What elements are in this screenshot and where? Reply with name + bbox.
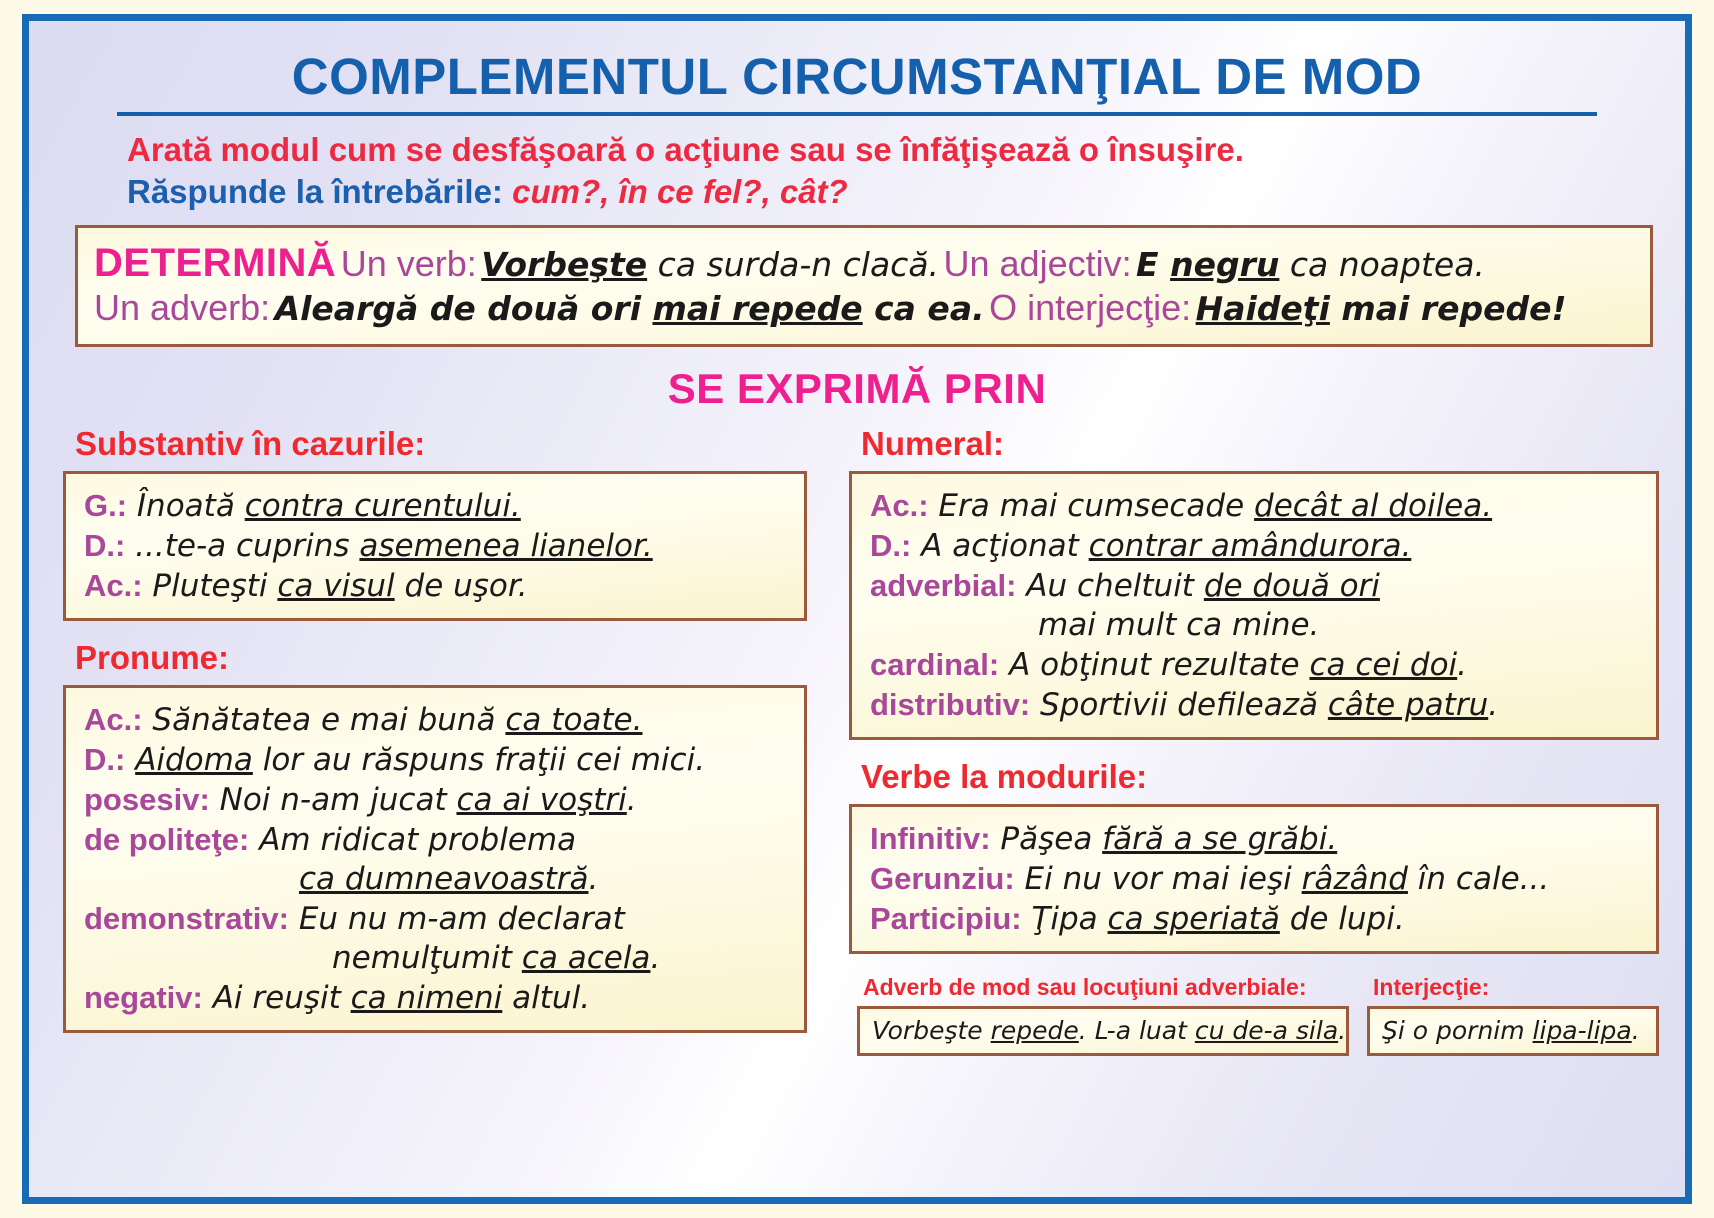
bottom-boxes-row: Adverb de mod sau locuţiuni adverbiale: …	[849, 974, 1659, 1056]
case-label: Gerunziu:	[870, 861, 1015, 896]
case-text-underline: câte patru	[1328, 687, 1488, 723]
column-right: Numeral: Ac.: Era mai cumsecade decât al…	[821, 425, 1665, 1056]
case-text-before: Înoată	[127, 488, 245, 524]
determina-label: DETERMINĂ	[94, 241, 336, 285]
box-substantiv: G.: Înoată contra curentului. D.: ...te-…	[63, 471, 807, 621]
case-text-before: A obţinut rezultate	[999, 647, 1309, 683]
determina-line-2: Un adverb: Aleargă de două ori mai reped…	[94, 287, 1634, 329]
interjectie-text-underline: lipa-lipa	[1533, 1016, 1632, 1045]
case-text-after: în cale...	[1408, 861, 1549, 897]
case-label: posesiv:	[84, 782, 210, 817]
case-text-after: .	[650, 940, 660, 976]
heading-substantiv: Substantiv în cazurile:	[75, 425, 807, 463]
case-text-underline: fără a se grăbi.	[1102, 821, 1337, 857]
case-text-after: altul.	[502, 980, 590, 1016]
case-text-after: .	[589, 861, 599, 897]
case-label: demonstrativ:	[84, 901, 289, 936]
poster-root: COMPLEMENTUL CIRCUMSTANŢIAL DE MOD Arată…	[0, 0, 1714, 1218]
list-item: Infinitiv: Păşea fără a se grăbi.	[870, 819, 1642, 859]
determina-ex-adv-before: Aleargă de două ori	[275, 289, 653, 328]
case-text-before: Ţipa	[1022, 901, 1108, 937]
list-item: D.: A acţionat contrar amândurora.	[870, 526, 1642, 566]
heading-adverb: Adverb de mod sau locuţiuni adverbiale:	[863, 974, 1349, 1001]
case-text-underline: ca nimeni	[351, 980, 503, 1016]
case-text-before: Noi n-am jucat	[210, 782, 457, 818]
adverb-text-before: Vorbeşte	[872, 1016, 991, 1045]
case-text-before: Era mai cumsecade	[929, 488, 1254, 524]
heading-verbe: Verbe la modurile:	[861, 758, 1659, 796]
title-underline	[117, 112, 1597, 116]
case-text-underline: ca dumneavoastră	[299, 861, 589, 897]
case-text-before: Au cheltuit	[1016, 568, 1203, 604]
case-text-underline: decât al doilea.	[1254, 488, 1492, 524]
subtitle-questions-line: Răspunde la întrebările: cum?, în ce fel…	[127, 174, 1665, 211]
case-text-underline: ca ai voştri	[456, 782, 626, 818]
determina-ex-int-underline: Haideţi	[1196, 289, 1330, 328]
determina-ex-int-after: mai repede!	[1330, 289, 1567, 328]
adverb-group: Adverb de mod sau locuţiuni adverbiale: …	[857, 974, 1349, 1056]
case-text-underline: contrar amândurora.	[1089, 528, 1412, 564]
list-item: Gerunziu: Ei nu vor mai ieşi râzând în c…	[870, 859, 1642, 899]
case-text-after: de lupi.	[1280, 901, 1405, 937]
determina-cat-verb: Un verb:	[341, 243, 477, 284]
case-label: distributiv:	[870, 687, 1030, 722]
case-label: G.:	[84, 488, 127, 523]
list-item: negativ: Ai reuşit ca nimeni altul.	[84, 978, 790, 1018]
case-text-underline: Aidoma	[135, 742, 253, 778]
subtitle-questions-prefix: Răspunde la întrebările:	[127, 173, 503, 210]
determina-cat-adjectiv: Un adjectiv:	[944, 243, 1132, 284]
list-item: Ac.: Pluteşti ca visul de uşor.	[84, 566, 790, 606]
case-text-before: mai mult ca mine.	[1038, 607, 1319, 643]
case-label: adverbial:	[870, 568, 1016, 603]
subtitle-questions: cum?, în ce fel?, cât?	[512, 173, 848, 210]
case-label: D.:	[84, 528, 125, 563]
box-interjectie: Şi o pornim lipa-lipa.	[1367, 1006, 1659, 1056]
list-item: demonstrativ: Eu nu m-am declarat	[84, 899, 790, 939]
determina-ex-verb-underline: Vorbeşte	[481, 245, 647, 284]
case-text-after: de uşor.	[395, 568, 528, 604]
case-text-underline: de două ori	[1204, 568, 1380, 604]
list-item: Participiu: Ţipa ca speriată de lupi.	[870, 899, 1642, 939]
case-text-before	[125, 742, 135, 778]
subtitle-block: Arată modul cum se desfăşoară o acţiune …	[49, 132, 1665, 211]
case-text-underline: ca speriată	[1108, 901, 1280, 937]
adverb-text-after: .	[1338, 1016, 1346, 1045]
case-label: negativ:	[84, 980, 203, 1015]
list-item: cardinal: A obţinut rezultate ca cei doi…	[870, 645, 1642, 685]
poster-frame: COMPLEMENTUL CIRCUMSTANŢIAL DE MOD Arată…	[22, 14, 1692, 1204]
case-text-underline: ca visul	[277, 568, 394, 604]
case-text-before: Eu nu m-am declarat	[289, 901, 625, 937]
case-text-before: A acţionat	[911, 528, 1088, 564]
interjectie-text-after: .	[1632, 1016, 1640, 1045]
case-text-before: Ei nu vor mai ieşi	[1015, 861, 1302, 897]
list-item: D.: ...te-a cuprins asemenea lianelor.	[84, 526, 790, 566]
determina-cat-adverb: Un adverb:	[94, 287, 270, 328]
case-text-underline: ca acela	[522, 940, 651, 976]
case-text-underline: ca cei doi	[1309, 647, 1457, 683]
case-text-after: .	[627, 782, 637, 818]
case-text-before: Sănătatea e mai bună	[143, 702, 506, 738]
case-label: Ac.:	[870, 488, 929, 523]
case-text-before: nemulţumit	[332, 940, 522, 976]
box-verbe: Infinitiv: Păşea fără a se grăbi. Gerunz…	[849, 804, 1659, 954]
determina-ex-adv-after: ca ea.	[863, 289, 985, 328]
determina-line-1: DETERMINĂ Un verb: Vorbeşte ca surda-n c…	[94, 240, 1634, 287]
list-item: G.: Înoată contra curentului.	[84, 486, 790, 526]
case-text-before: ...te-a cuprins	[125, 528, 359, 564]
list-item: D.: Aidoma lor au răspuns fraţii cei mic…	[84, 740, 790, 780]
case-text-underline: ca toate.	[505, 702, 642, 738]
case-label: Participiu:	[870, 901, 1022, 936]
box-adverb: Vorbeşte repede. L-a luat cu de-a sila.	[857, 1006, 1349, 1056]
determina-cat-interjectie: O interjecţie:	[989, 287, 1191, 328]
case-text-before: Sportivii defilează	[1030, 687, 1328, 723]
case-text-underline: asemenea lianelor.	[359, 528, 652, 564]
case-label: Ac.:	[84, 568, 143, 603]
heading-numeral: Numeral:	[861, 425, 1659, 463]
columns-wrapper: Substantiv în cazurile: G.: Înoată contr…	[49, 425, 1665, 1056]
list-item: posesiv: Noi n-am jucat ca ai voştri.	[84, 780, 790, 820]
heading-pronume: Pronume:	[75, 639, 807, 677]
list-item: nemulţumit ca acela.	[84, 939, 790, 978]
case-label: de politeţe:	[84, 822, 249, 857]
case-text-underline: contra curentului.	[245, 488, 521, 524]
list-item: distributiv: Sportivii defilează câte pa…	[870, 685, 1642, 725]
case-text-before: Pluteşti	[143, 568, 278, 604]
case-text-after: lor au răspuns fraţii cei mici.	[253, 742, 705, 778]
list-item: adverbial: Au cheltuit de două ori	[870, 566, 1642, 606]
adverb-text-underline-2: cu de-a sila	[1195, 1016, 1338, 1045]
determina-box: DETERMINĂ Un verb: Vorbeşte ca surda-n c…	[75, 225, 1653, 347]
interjectie-group: Interjecţie: Şi o pornim lipa-lipa.	[1367, 974, 1659, 1056]
case-label: Ac.:	[84, 702, 143, 737]
case-label: Infinitiv:	[870, 821, 991, 856]
case-text-after: .	[1488, 687, 1498, 723]
list-item: Ac.: Era mai cumsecade decât al doilea.	[870, 486, 1642, 526]
case-text-before: Am ridicat problema	[249, 822, 576, 858]
determina-ex-adj-after: ca noaptea.	[1279, 245, 1485, 284]
page-title: COMPLEMENTUL CIRCUMSTANŢIAL DE MOD	[49, 51, 1665, 102]
interjectie-text-before: Şi o pornim	[1382, 1016, 1533, 1045]
case-text-before: Ai reuşit	[203, 980, 351, 1016]
box-numeral: Ac.: Era mai cumsecade decât al doilea. …	[849, 471, 1659, 740]
case-text-before: Păşea	[991, 821, 1103, 857]
list-item: Ac.: Sănătatea e mai bună ca toate.	[84, 700, 790, 740]
heading-interjectie: Interjecţie:	[1373, 974, 1659, 1001]
case-label: cardinal:	[870, 647, 999, 682]
determina-ex-adj-underline: negru	[1170, 245, 1279, 284]
list-item: ca dumneavoastră.	[84, 860, 790, 899]
list-item: de politeţe: Am ridicat problema	[84, 820, 790, 860]
se-exprima-prin-heading: SE EXPRIMĂ PRIN	[49, 365, 1665, 413]
adverb-text-middle: . L-a luat	[1079, 1016, 1195, 1045]
case-text-underline: râzând	[1302, 861, 1408, 897]
determina-ex-adj-before: E	[1136, 245, 1170, 284]
case-text-after: .	[1457, 647, 1467, 683]
list-item: mai mult ca mine.	[870, 606, 1642, 645]
subtitle-definition: Arată modul cum se desfăşoară o acţiune …	[127, 132, 1665, 169]
determina-ex-verb-after: ca surda-n clacă.	[647, 245, 939, 284]
adverb-text-underline: repede	[991, 1016, 1079, 1045]
box-pronume: Ac.: Sănătatea e mai bună ca toate. D.: …	[63, 685, 807, 1033]
case-label: D.:	[870, 528, 911, 563]
case-label: D.:	[84, 742, 125, 777]
poster-content: COMPLEMENTUL CIRCUMSTANŢIAL DE MOD Arată…	[29, 21, 1685, 1197]
column-left: Substantiv în cazurile: G.: Înoată contr…	[49, 425, 807, 1056]
determina-ex-adv-underline: mai repede	[653, 289, 863, 328]
